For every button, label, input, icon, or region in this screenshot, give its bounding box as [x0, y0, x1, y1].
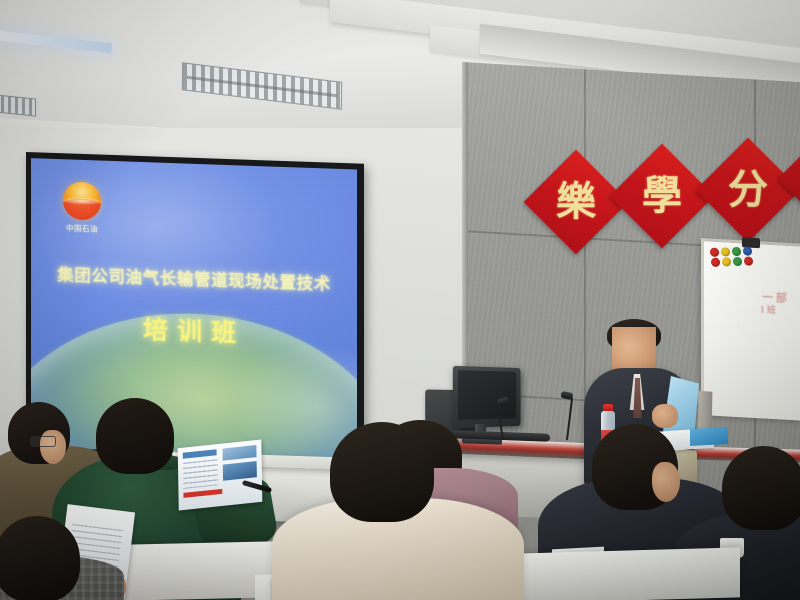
desk-blue-folder: [690, 427, 728, 446]
magnet-red: [710, 248, 719, 258]
attendee-cream-jacket-head: [330, 422, 434, 522]
attendee-brochure: [178, 439, 263, 510]
bottle-cap: [603, 404, 613, 411]
whiteboard[interactable]: 一 部 1 班: [701, 238, 800, 421]
magnet-green-2: [733, 257, 742, 267]
magnet-yellow-2: [722, 257, 731, 267]
magnet-yellow: [721, 247, 730, 257]
magnet-blue: [743, 246, 752, 256]
slide-title: 集团公司油气长输管道现场处置技术: [31, 260, 357, 295]
ceiling-air-vent-icon: [182, 62, 342, 110]
brochure-header-block: [183, 449, 217, 458]
conference-room-photo: 樂 學 分 享 一 部 1 班 中国石油: [0, 0, 800, 600]
magnet-red-2: [711, 258, 720, 268]
monitor-screen: [458, 370, 516, 420]
projection-screen-surface: 中国石油 集团公司油气长输管道现场处置技术 培训班: [31, 158, 357, 458]
attendee-dark-suit-a-face: [652, 462, 680, 502]
magnet-blue-2: [744, 256, 753, 266]
desktop-lcd-monitor: [453, 366, 521, 428]
petrochina-sun-logo-icon: [63, 181, 101, 220]
banner-character: 學: [642, 176, 682, 216]
presenter-hand: [652, 404, 678, 428]
whiteboard-note-line-2: 1 班: [760, 302, 776, 316]
attendee-green-sweater-head: [96, 398, 174, 474]
ceiling-air-vent-2-icon: [0, 93, 36, 116]
attendee-glasses-icon: [30, 436, 56, 447]
banner-character: 分: [728, 170, 768, 210]
petrochina-logo-block: 中国石油: [53, 181, 111, 235]
recessed-fluorescent-light-icon: [0, 29, 112, 54]
banner-character: 樂: [556, 182, 596, 222]
petrochina-logo-text: 中国石油: [53, 222, 111, 235]
brochure-image-bottom: [223, 461, 257, 481]
brochure-image-top: [223, 445, 257, 461]
magnet-green: [732, 247, 741, 257]
brochure-text-lines: [183, 459, 219, 489]
brochure-red-bar: [183, 489, 222, 498]
attendee-dark-suit-b-head: [722, 446, 800, 530]
projection-screen-frame: 中国石油 集团公司油气长输管道现场处置技术 培训班: [26, 152, 364, 464]
attendee-plaid-jacket-head: [0, 516, 80, 600]
